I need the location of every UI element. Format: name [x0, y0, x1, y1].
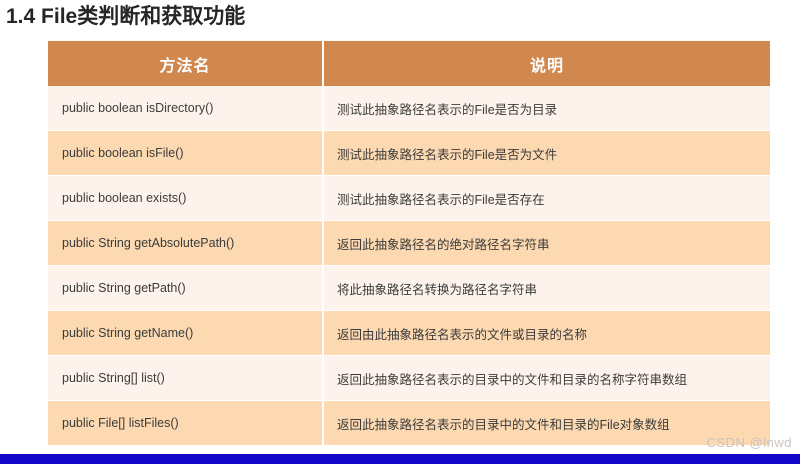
cell-method: public boolean isDirectory() — [48, 86, 324, 131]
cell-description: 测试此抽象路径名表示的File是否为目录 — [324, 86, 770, 131]
cell-method: public String getAbsolutePath() — [48, 221, 324, 266]
table-header-row: 方法名 说明 — [48, 41, 770, 86]
table-header: 方法名 说明 — [48, 41, 770, 86]
slide-page: 1.4 File类判断和获取功能 方法名 说明 public boolean i… — [0, 0, 800, 464]
table-row: public String getName()返回由此抽象路径名表示的文件或目录… — [48, 311, 770, 356]
table-row: public File[] listFiles()返回此抽象路径名表示的目录中的… — [48, 401, 770, 446]
cell-description: 返回此抽象路径名表示的目录中的文件和目录的名称字符串数组 — [324, 356, 770, 401]
file-methods-table: 方法名 说明 public boolean isDirectory()测试此抽象… — [48, 41, 770, 446]
table-row: public String[] list()返回此抽象路径名表示的目录中的文件和… — [48, 356, 770, 401]
cell-method: public boolean exists() — [48, 176, 324, 221]
cell-description: 返回由此抽象路径名表示的文件或目录的名称 — [324, 311, 770, 356]
column-header-method: 方法名 — [48, 41, 324, 86]
table-row: public boolean isDirectory()测试此抽象路径名表示的F… — [48, 86, 770, 131]
cell-method: public String[] list() — [48, 356, 324, 401]
cell-method: public boolean isFile() — [48, 131, 324, 176]
cell-description: 测试此抽象路径名表示的File是否存在 — [324, 176, 770, 221]
cell-description: 将此抽象路径名转换为路径名字符串 — [324, 266, 770, 311]
page-title: 1.4 File类判断和获取功能 — [6, 2, 245, 32]
cell-method: public String getPath() — [48, 266, 324, 311]
cell-description: 返回此抽象路径名的绝对路径名字符串 — [324, 221, 770, 266]
column-header-description: 说明 — [324, 41, 770, 86]
cell-method: public File[] listFiles() — [48, 401, 324, 446]
table-row: public boolean exists()测试此抽象路径名表示的File是否… — [48, 176, 770, 221]
table-row: public String getAbsolutePath()返回此抽象路径名的… — [48, 221, 770, 266]
table-body: public boolean isDirectory()测试此抽象路径名表示的F… — [48, 86, 770, 446]
cell-method: public String getName() — [48, 311, 324, 356]
cell-description: 测试此抽象路径名表示的File是否为文件 — [324, 131, 770, 176]
table-row: public String getPath()将此抽象路径名转换为路径名字符串 — [48, 266, 770, 311]
table-row: public boolean isFile()测试此抽象路径名表示的File是否… — [48, 131, 770, 176]
bottom-accent-bar — [0, 454, 800, 464]
cell-description: 返回此抽象路径名表示的目录中的文件和目录的File对象数组 — [324, 401, 770, 446]
